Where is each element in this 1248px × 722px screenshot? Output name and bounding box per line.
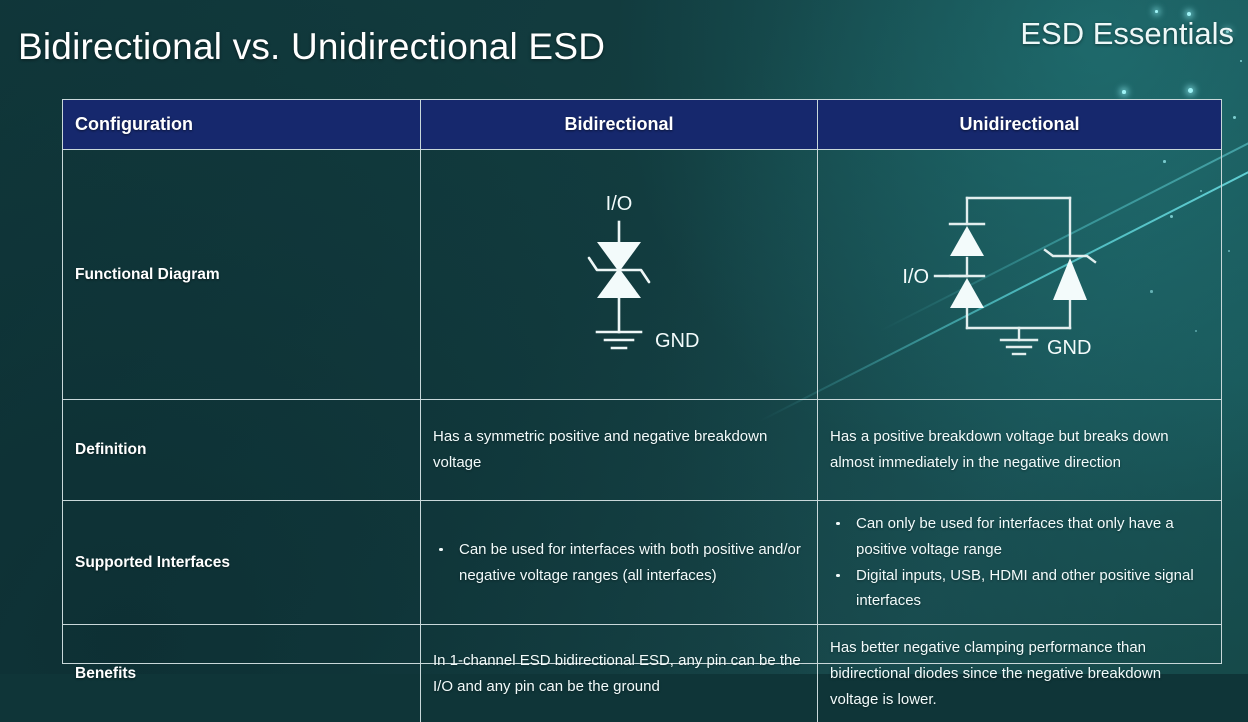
bullet-list: Can only be used for interfaces that onl…	[830, 511, 1209, 614]
list-item: Can be used for interfaces with both pos…	[433, 537, 805, 589]
io-label: I/O	[902, 266, 929, 288]
header-cell-bidirectional: Bidirectional	[421, 100, 818, 149]
bidirectional-tvs-symbol-icon: I/O GND	[509, 180, 729, 370]
unidirectional-diagram-cell: I/O GND	[818, 150, 1221, 399]
bullet-list: Can be used for interfaces with both pos…	[433, 537, 805, 589]
bidirectional-interfaces-cell: Can be used for interfaces with both pos…	[421, 501, 818, 624]
particle-dot-icon	[1188, 88, 1193, 93]
row-label: Definition	[75, 441, 408, 459]
header-label: Configuration	[75, 114, 408, 135]
row-label-cell: Supported Interfaces	[63, 501, 421, 624]
table-row: Definition Has a symmetric positive and …	[63, 400, 1221, 501]
unidirectional-steering-diode-circuit-icon: I/O GND	[895, 180, 1145, 370]
particle-dot-icon	[1240, 60, 1242, 62]
gnd-label: GND	[1047, 337, 1091, 359]
bidirectional-definition-cell: Has a symmetric positive and negative br…	[421, 400, 818, 500]
header-cell-configuration: Configuration	[63, 100, 421, 149]
row-label-cell: Definition	[63, 400, 421, 500]
unidirectional-definition-cell: Has a positive breakdown voltage but bre…	[818, 400, 1221, 500]
table-row: Supported Interfaces Can be used for int…	[63, 501, 1221, 625]
comparison-table: Configuration Bidirectional Unidirection…	[62, 99, 1222, 664]
io-label: I/O	[606, 193, 633, 215]
slide-canvas: Bidirectional vs. Unidirectional ESD ESD…	[0, 0, 1248, 674]
page-title: Bidirectional vs. Unidirectional ESD	[18, 26, 605, 68]
header-cell-unidirectional: Unidirectional	[818, 100, 1221, 149]
particle-dot-icon	[1122, 90, 1126, 94]
bidirectional-diagram-cell: I/O GND	[421, 150, 818, 399]
particle-dot-icon	[1155, 10, 1158, 13]
table-row: Functional Diagram I/O	[63, 150, 1221, 400]
header-label: Bidirectional	[433, 114, 805, 135]
cell-paragraph: Has a positive breakdown voltage but bre…	[830, 424, 1209, 476]
list-item: Can only be used for interfaces that onl…	[830, 511, 1209, 563]
particle-dot-icon	[1228, 250, 1230, 252]
row-label-cell: Functional Diagram	[63, 150, 421, 399]
particle-dot-icon	[1233, 116, 1236, 119]
row-label: Functional Diagram	[75, 266, 408, 284]
unidirectional-interfaces-cell: Can only be used for interfaces that onl…	[818, 501, 1221, 624]
cell-paragraph: Has a symmetric positive and negative br…	[433, 424, 805, 476]
header-label: Unidirectional	[830, 114, 1209, 135]
list-item: Digital inputs, USB, HDMI and other posi…	[830, 563, 1209, 615]
series-kicker-label: ESD Essentials	[1020, 16, 1234, 52]
gnd-label: GND	[655, 330, 699, 352]
row-label: Supported Interfaces	[75, 554, 408, 572]
table-header-row: Configuration Bidirectional Unidirection…	[63, 100, 1221, 150]
